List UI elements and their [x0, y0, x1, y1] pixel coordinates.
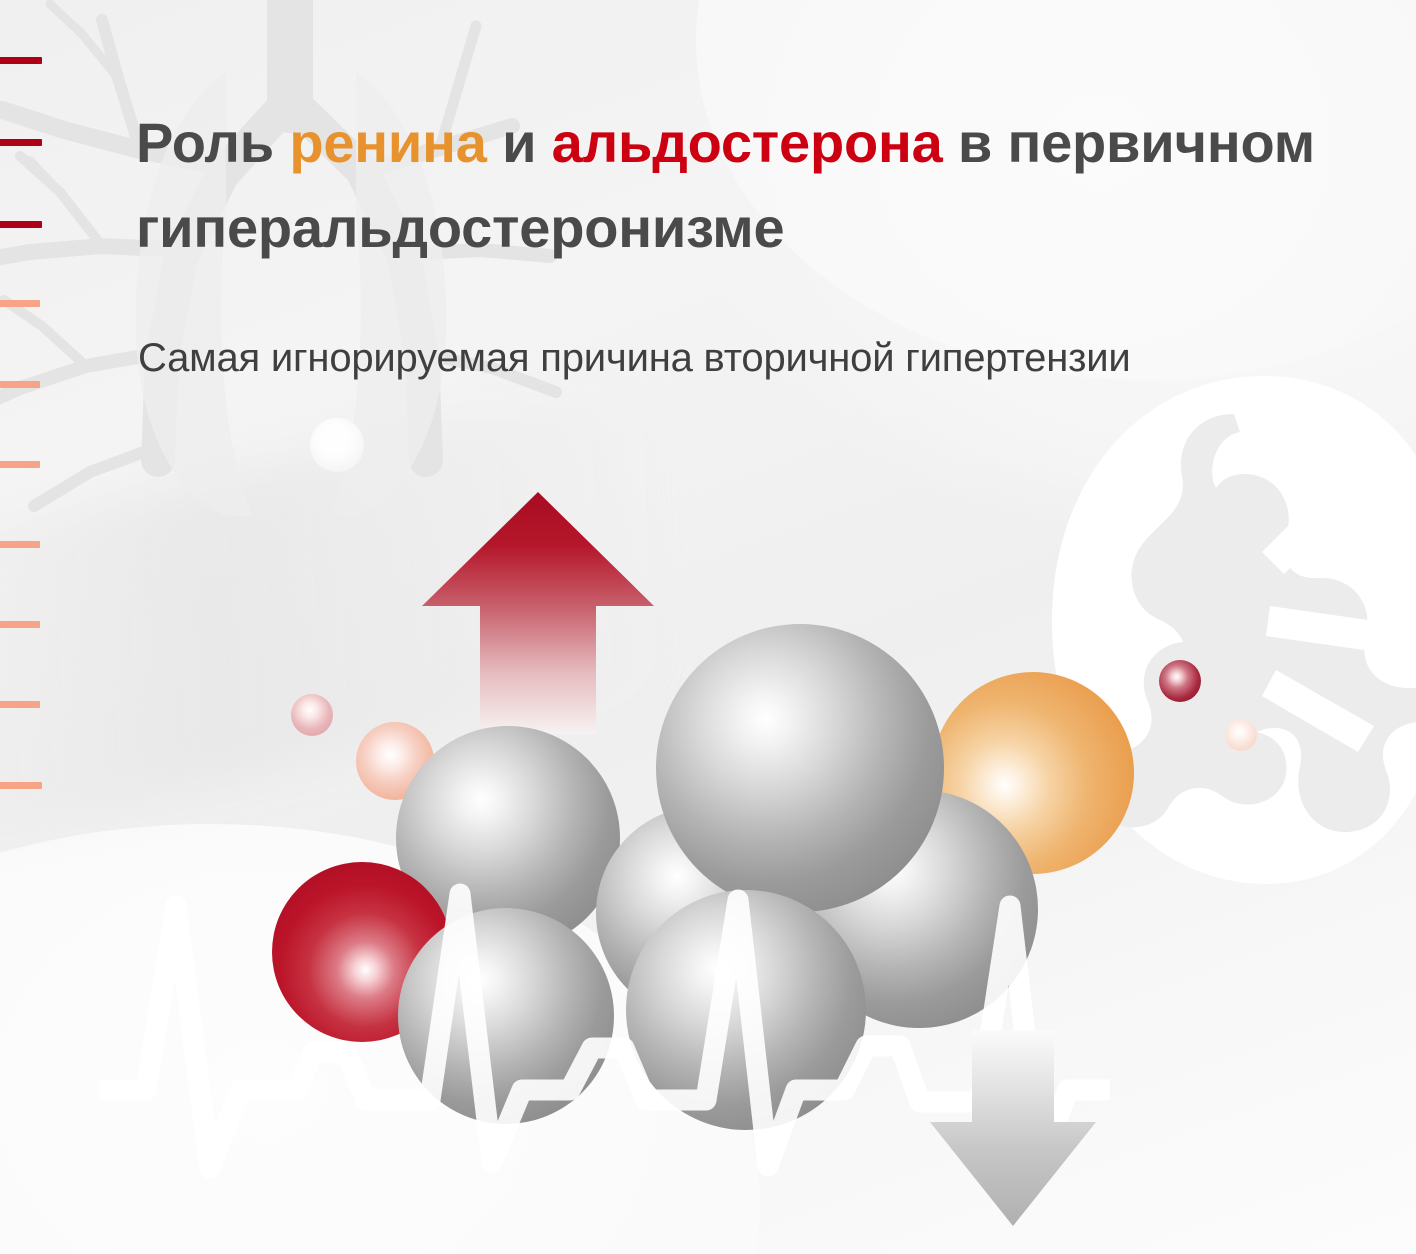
gray-atom	[398, 908, 614, 1124]
title-segment-aldosterone: альдостерона	[552, 111, 943, 174]
up-arrow-icon	[418, 488, 658, 738]
page-title: Роль ренина и альдостерона в первичном г…	[136, 100, 1336, 270]
ruler-tick	[0, 57, 42, 64]
title-segment-2: и	[487, 111, 552, 174]
ruler-tick	[0, 221, 42, 228]
ruler-tick	[0, 461, 40, 468]
tiny-rose-atom	[291, 694, 333, 736]
ruler-tick	[0, 541, 40, 548]
tiny-white-atom	[310, 418, 364, 472]
ruler-tick	[0, 139, 42, 146]
gray-atom	[626, 890, 866, 1130]
ruler-tick	[0, 300, 40, 307]
large-gray-atom	[656, 624, 944, 912]
ruler-tick-scale	[0, 0, 60, 1254]
down-arrow-icon	[928, 1028, 1098, 1228]
ruler-tick	[0, 381, 40, 388]
title-segment-0: Роль	[136, 111, 289, 174]
ruler-tick	[0, 701, 40, 708]
page-subtitle: Самая игнорируемая причина вторичной гип…	[138, 336, 1398, 381]
title-segment-renin: ренина	[289, 111, 486, 174]
kidney-red-atom	[1159, 660, 1201, 702]
presentation-slide: Роль ренина и альдостерона в первичном г…	[0, 0, 1416, 1254]
ruler-tick	[0, 782, 42, 789]
ruler-tick	[0, 621, 40, 628]
kidney-pale-atom	[1225, 719, 1257, 751]
